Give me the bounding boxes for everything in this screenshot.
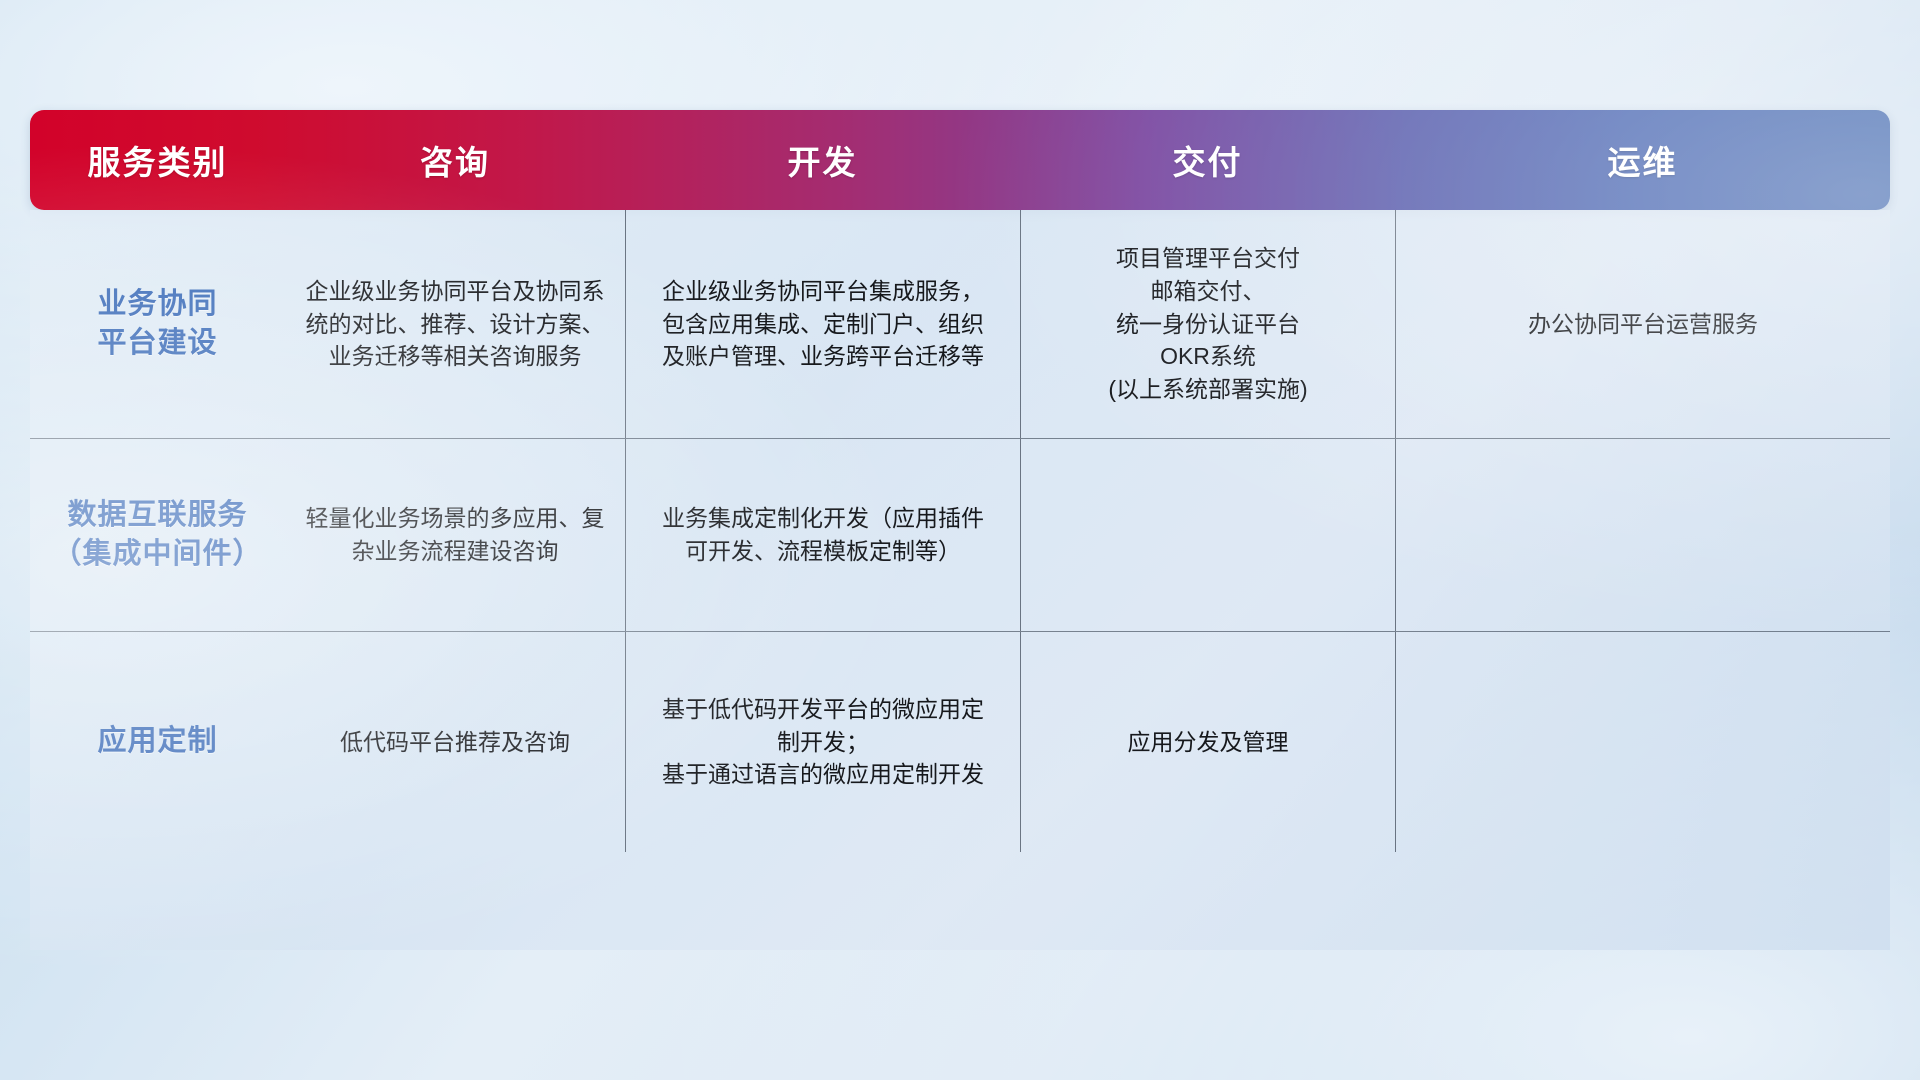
column-header-category: 服务类别 (30, 110, 285, 210)
cell-consulting: 企业级业务协同平台及协同系 统的对比、推荐、设计方案、 业务迁移等相关咨询服务 (285, 210, 625, 438)
cell-operations: 办公协同平台运营服务 (1395, 210, 1890, 438)
cell-consulting: 轻量化业务场景的多应用、复 杂业务流程建设咨询 (285, 439, 625, 631)
table-header-row: 服务类别 咨询 开发 交付 运维 (30, 110, 1890, 210)
cell-consulting: 低代码平台推荐及咨询 (285, 632, 625, 852)
service-matrix-table: 服务类别 咨询 开发 交付 运维 业务协同 平台建设 企业级业务协同平台及协同系… (30, 110, 1890, 950)
column-header-consulting: 咨询 (285, 110, 625, 210)
row-category-label: 应用定制 (30, 632, 285, 852)
table-row: 业务协同 平台建设 企业级业务协同平台及协同系 统的对比、推荐、设计方案、 业务… (30, 210, 1890, 439)
table-row: 应用定制 低代码平台推荐及咨询 基于低代码开发平台的微应用定 制开发； 基于通过… (30, 632, 1890, 852)
table-row: 数据互联服务 （集成中间件） 轻量化业务场景的多应用、复 杂业务流程建设咨询 业… (30, 439, 1890, 632)
column-header-delivery: 交付 (1020, 110, 1395, 210)
row-category-label: 业务协同 平台建设 (30, 210, 285, 438)
table-body: 业务协同 平台建设 企业级业务协同平台及协同系 统的对比、推荐、设计方案、 业务… (30, 210, 1890, 950)
row-category-label: 数据互联服务 （集成中间件） (30, 439, 285, 631)
cell-development: 基于低代码开发平台的微应用定 制开发； 基于通过语言的微应用定制开发 (625, 632, 1020, 852)
column-header-operations: 运维 (1395, 110, 1890, 210)
cell-delivery: 项目管理平台交付 邮箱交付、 统一身份认证平台 OKR系统 (以上系统部署实施) (1020, 210, 1395, 438)
cell-delivery (1020, 439, 1395, 631)
cell-operations (1395, 632, 1890, 852)
cell-development: 企业级业务协同平台集成服务， 包含应用集成、定制门户、组织 及账户管理、业务跨平… (625, 210, 1020, 438)
cell-operations (1395, 439, 1890, 631)
column-header-development: 开发 (625, 110, 1020, 210)
cell-delivery: 应用分发及管理 (1020, 632, 1395, 852)
page-background: 服务类别 咨询 开发 交付 运维 业务协同 平台建设 企业级业务协同平台及协同系… (0, 0, 1920, 1080)
cell-development: 业务集成定制化开发（应用插件 可开发、流程模板定制等） (625, 439, 1020, 631)
